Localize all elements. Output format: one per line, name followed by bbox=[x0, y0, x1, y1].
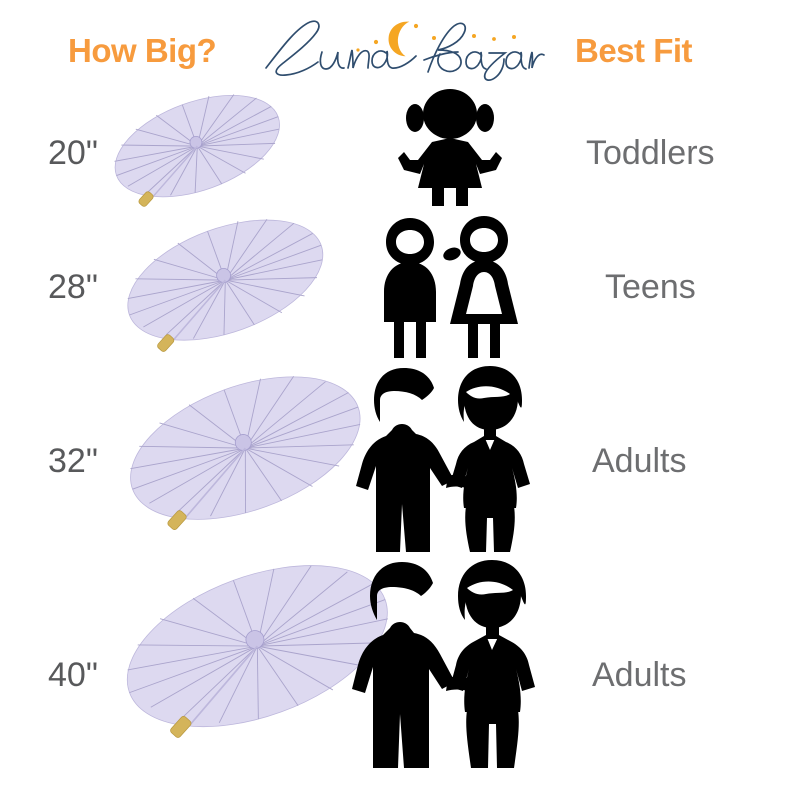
chart-header: How Big? bbox=[0, 0, 800, 92]
size-row: 40" bbox=[0, 548, 800, 796]
size-row: 32" bbox=[0, 360, 800, 560]
parasol-icon bbox=[112, 364, 380, 542]
luna-bazaar-logo bbox=[258, 12, 548, 84]
parasol-icon bbox=[98, 88, 298, 216]
adult-couple-icon bbox=[352, 558, 542, 768]
crescent-moon-icon bbox=[384, 17, 416, 57]
fit-label: Toddlers bbox=[586, 134, 715, 173]
toddler-girl-icon bbox=[398, 88, 502, 206]
parasol-icon bbox=[110, 210, 342, 362]
fit-label: Adults bbox=[592, 656, 687, 695]
fit-label: Teens bbox=[605, 268, 696, 307]
size-row: 28" bbox=[0, 206, 800, 364]
fit-label: Adults bbox=[592, 442, 687, 481]
size-label: 28" bbox=[48, 268, 98, 307]
size-label: 20" bbox=[48, 134, 98, 173]
size-label: 32" bbox=[48, 442, 98, 481]
size-row: 20" bbox=[0, 86, 800, 218]
best-fit-column-header: Best Fit bbox=[575, 32, 692, 70]
teen-couple-icon bbox=[372, 210, 532, 358]
size-label: 40" bbox=[48, 656, 98, 695]
how-big-column-header: How Big? bbox=[68, 32, 216, 70]
adult-couple-icon bbox=[356, 364, 538, 552]
parasol-size-chart: How Big? bbox=[0, 0, 800, 800]
